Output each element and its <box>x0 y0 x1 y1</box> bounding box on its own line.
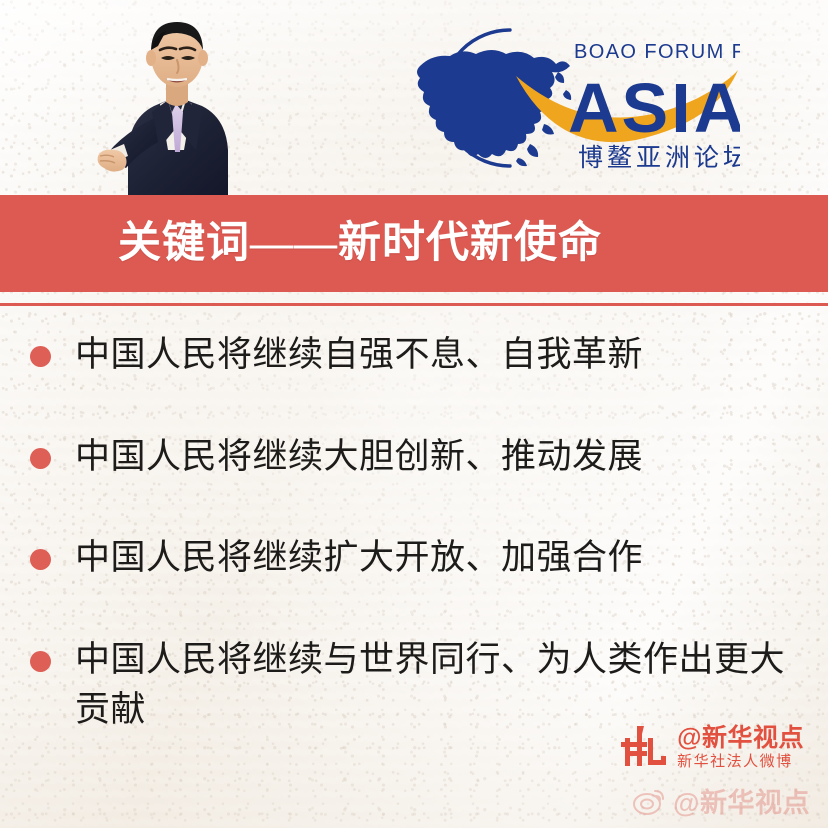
list-item: 中国人民将继续扩大开放、加强合作 <box>0 533 828 583</box>
bullet-dot-icon <box>30 448 51 469</box>
list-item-label: 中国人民将继续与世界同行、为人类作出更大贡献 <box>75 635 788 734</box>
weibo-watermark: @新华视点 <box>632 781 810 820</box>
boao-logo-chinese: 博鳌亚洲论坛 <box>578 144 740 172</box>
list-item: 中国人民将继续与世界同行、为人类作出更大贡献 <box>0 635 828 734</box>
xinhua-logo-mark-icon <box>617 724 669 770</box>
poster-canvas: BOAO FORUM FOR ASIA 博鳌亚洲论坛 关键词——新时代新使命 中… <box>0 0 828 828</box>
boao-logo-line2: ASIA <box>568 69 740 147</box>
list-item-label: 中国人民将继续扩大开放、加强合作 <box>75 533 788 583</box>
list-item: 中国人民将继续自强不息、自我革新 <box>0 330 828 380</box>
list-item-label: 中国人民将继续大胆创新、推动发展 <box>75 432 788 482</box>
bullet-dot-icon <box>30 346 51 367</box>
xinhua-badge-text: @新华视点 新华社法人微博 <box>677 726 804 769</box>
weibo-eye-icon <box>632 787 666 815</box>
bullet-dot-icon <box>30 549 51 570</box>
list-item-label: 中国人民将继续自强不息、自我革新 <box>75 330 788 380</box>
banner-divider-rule <box>0 303 828 306</box>
weibo-watermark-label: @新华视点 <box>673 781 810 820</box>
title-banner: 关键词——新时代新使命 <box>0 195 828 292</box>
boao-forum-logo: BOAO FORUM FOR ASIA 博鳌亚洲论坛 <box>398 18 740 178</box>
boao-logo-line1: BOAO FORUM FOR <box>574 41 740 63</box>
xinhua-badge: @新华视点 新华社法人微博 <box>617 724 804 770</box>
page-title: 关键词——新时代新使命 <box>118 222 602 265</box>
xinhua-subtitle: 新华社法人微博 <box>677 754 793 769</box>
bullet-dot-icon <box>30 651 51 672</box>
portrait-photo <box>96 0 256 196</box>
keyword-bullet-list: 中国人民将继续自强不息、自我革新 中国人民将继续大胆创新、推动发展 中国人民将继… <box>0 330 828 786</box>
list-item: 中国人民将继续大胆创新、推动发展 <box>0 432 828 482</box>
xinhua-handle: @新华视点 <box>677 726 804 751</box>
header-section: BOAO FORUM FOR ASIA 博鳌亚洲论坛 <box>0 0 828 196</box>
